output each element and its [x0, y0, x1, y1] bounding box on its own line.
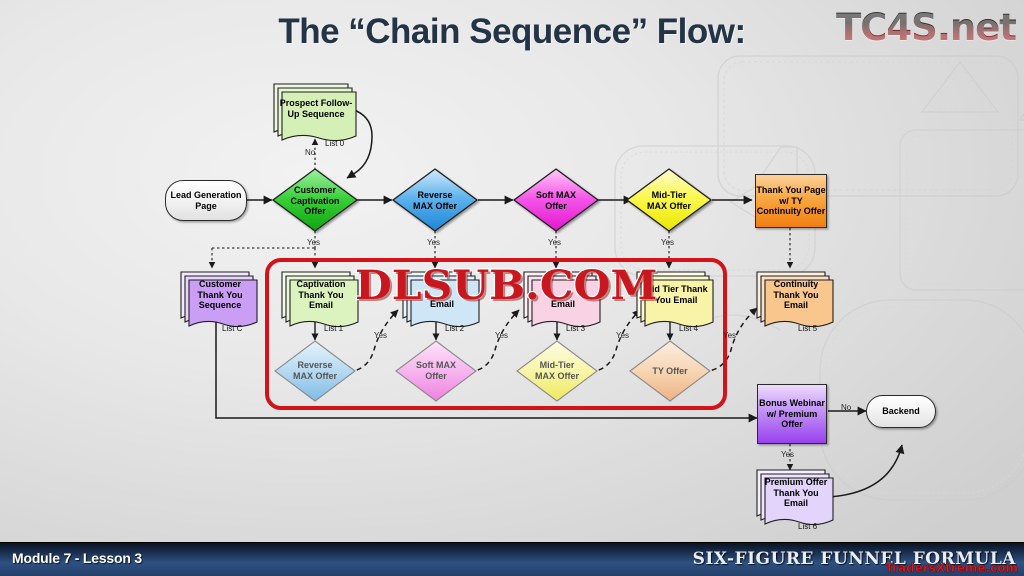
node-customer-thankyou-sequence[interactable]: Customer Thank You Sequence — [180, 272, 254, 322]
edge-label-yes-r4: Yes — [723, 331, 736, 340]
edge-label-no-backend: No — [841, 403, 851, 412]
edge-label-yes-r3: Yes — [616, 331, 629, 340]
node-reverse-max-offer[interactable]: Reverse MAX Offer — [405, 182, 465, 219]
node-label: Reverse MAX Offer — [405, 190, 465, 211]
footer-bar: Module 7 - Lesson 3 SIX-FIGURE FUNNEL FO… — [0, 542, 1024, 576]
edge-label-no-top: No — [305, 148, 315, 157]
node-label: Customer Captivation Offer — [278, 185, 352, 217]
list-label-c: List C — [222, 324, 242, 333]
node-continuity-thankyou-email[interactable]: Continuity Thank You Email — [756, 272, 830, 322]
list-label-2: List 2 — [445, 324, 464, 333]
node-thankyou-page-continuity[interactable]: Thank You Page w/ TY Continuity Offer — [755, 174, 827, 228]
list-label-1: List 1 — [324, 324, 343, 333]
node-lead-generation-page[interactable]: Lead Generation Page — [165, 180, 247, 221]
node-label: Mid-Tier MAX Offer — [528, 360, 586, 381]
node-faded-reverse-max-offer[interactable]: Reverse MAX Offer — [288, 353, 342, 389]
node-label: Soft MAX Offer — [409, 360, 463, 381]
node-label: Reverse MAX Offer — [288, 360, 342, 381]
edge-label-yes-r1: Yes — [374, 331, 387, 340]
node-faded-midtier-max-offer[interactable]: Mid-Tier MAX Offer — [528, 353, 586, 389]
node-label: Prospect Follow-Up Sequence — [278, 98, 354, 125]
node-customer-captivation-offer[interactable]: Customer Captivation Offer — [278, 180, 352, 222]
dlsub-watermark: DLSUB.COM — [355, 262, 657, 309]
node-label: Thank You Page w/ TY Continuity Offer — [756, 185, 826, 217]
edge-label-yes-reverse: Yes — [427, 238, 440, 247]
node-label: Backend — [882, 406, 920, 417]
edge-label-yes-midtier: Yes — [661, 238, 674, 247]
node-label: Soft MAX Offer — [528, 190, 584, 211]
edge-label-yes-soft: Yes — [548, 238, 561, 247]
list-label-3: List 3 — [566, 324, 585, 333]
node-prospect-follow-up-sequence[interactable]: Prospect Follow-Up Sequence — [272, 84, 354, 138]
footer-module-lesson: Module 7 - Lesson 3 — [12, 550, 142, 566]
list-label-5: List 5 — [798, 324, 817, 333]
list-label-0: List 0 — [325, 139, 344, 148]
list-label-6: List 6 — [798, 522, 817, 531]
node-label: Premium Offer Thank You Email — [762, 477, 830, 515]
slide-canvas: The “Chain Sequence” Flow: TC4S.net — [0, 0, 1024, 576]
node-label: Continuity Thank You Email — [762, 279, 830, 317]
node-label: TY Offer — [650, 366, 689, 377]
node-label: Captivation Thank You Email — [287, 279, 355, 317]
tradersxtreme-watermark: TradersXtreme.com — [885, 561, 1018, 575]
edge-label-yes-r2: Yes — [495, 331, 508, 340]
edge-label-yes-premium: Yes — [781, 450, 794, 459]
node-captivation-thankyou-email[interactable]: Captivation Thank You Email — [281, 272, 355, 322]
node-midtier-max-offer[interactable]: Mid-Tier MAX Offer — [639, 182, 699, 219]
node-label: Bonus Webinar w/ Premium Offer — [758, 398, 826, 430]
node-premium-offer-thankyou-email[interactable]: Premium Offer Thank You Email — [756, 470, 830, 520]
node-faded-ty-offer[interactable]: TY Offer — [643, 362, 697, 380]
list-label-4: List 4 — [679, 324, 698, 333]
node-faded-soft-max-offer[interactable]: Soft MAX Offer — [409, 353, 463, 389]
node-soft-max-offer[interactable]: Soft MAX Offer — [528, 182, 584, 219]
node-label: Lead Generation Page — [166, 190, 246, 211]
node-bonus-webinar-premium-offer[interactable]: Bonus Webinar w/ Premium Offer — [757, 384, 827, 444]
node-backend[interactable]: Backend — [866, 395, 936, 428]
node-label: Customer Thank You Sequence — [186, 279, 254, 317]
edge-label-yes-captivation: Yes — [307, 238, 320, 247]
node-label: Mid-Tier MAX Offer — [639, 190, 699, 211]
